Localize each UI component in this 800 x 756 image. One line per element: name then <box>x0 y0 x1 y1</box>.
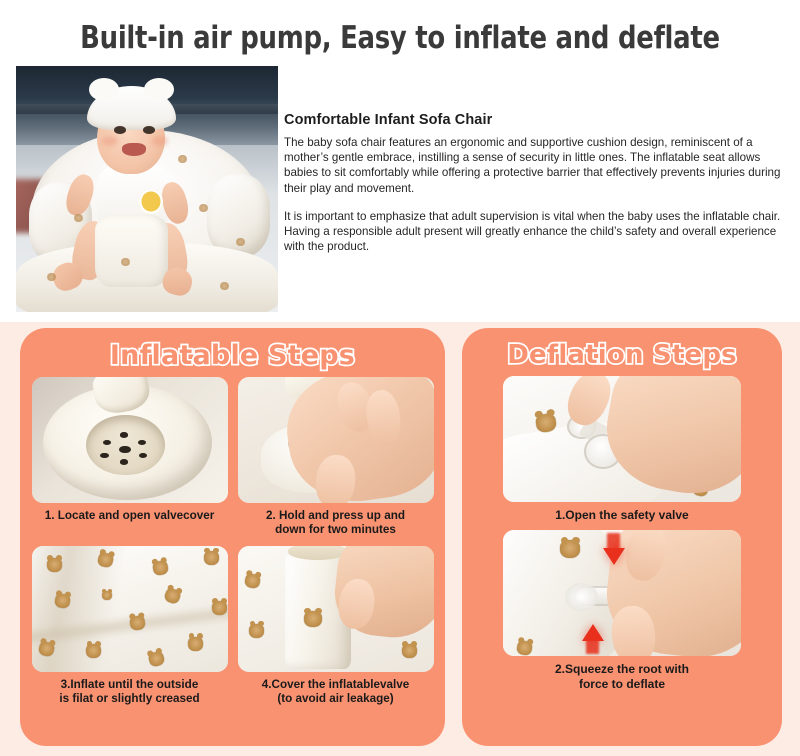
step-caption: 3.Inflate until the outside is filat or … <box>32 678 228 707</box>
red-arrow-down-icon <box>603 548 625 565</box>
steps-section: Inflatable Steps <box>0 322 800 756</box>
baby-hat <box>87 86 176 130</box>
inflatable-steps-panel: Inflatable Steps <box>20 328 445 746</box>
bear-print <box>199 204 208 212</box>
description-heading: Comfortable Infant Sofa Chair <box>284 112 792 128</box>
deflation-steps-panel: Deflation Steps 1.Open the safety valve <box>462 328 782 746</box>
bear-print <box>74 214 83 222</box>
valve-hole-center <box>119 446 131 454</box>
valve-hole <box>139 453 147 458</box>
inflatable-steps-title: Inflatable Steps <box>20 340 445 371</box>
valve-root <box>565 583 598 611</box>
baby-onesie-logo <box>139 189 163 214</box>
bear-print <box>204 551 219 565</box>
step-caption: 2.Squeeze the root with force to deflate <box>503 662 741 691</box>
bear-print <box>188 637 203 651</box>
description-block: Comfortable Infant Sofa Chair The baby s… <box>284 112 792 254</box>
inflatable-seat-front-post <box>95 214 168 288</box>
step-photo-valve-cover <box>32 377 228 503</box>
deflation-steps-title: Deflation Steps <box>462 340 782 370</box>
step-photo-cover-valve <box>238 546 434 672</box>
description-paragraph-2: It is important to emphasize that adult … <box>284 209 792 255</box>
step-item: 2. Hold and press up and down for two mi… <box>238 377 434 538</box>
bear-print <box>236 238 245 246</box>
step-item: 1.Open the safety valve <box>503 376 741 522</box>
step-photo-squeeze-root <box>503 530 741 656</box>
valve-hole <box>120 459 128 464</box>
bear-print <box>212 601 227 615</box>
step-caption: 4.Cover the inflatablevalve (to avoid ai… <box>238 678 434 707</box>
valve-hole <box>138 440 146 445</box>
step-item: 2.Squeeze the root with force to deflate <box>503 530 741 691</box>
inflatable-steps-grid: 1. Locate and open valvecover 2. Hold an… <box>20 371 445 707</box>
bear-print <box>402 644 417 658</box>
valve-hole <box>120 432 128 437</box>
valve-hole <box>100 453 108 458</box>
hero-product-photo <box>16 66 278 312</box>
bear-print <box>121 258 130 266</box>
bear-print <box>102 591 112 600</box>
step-photo-open-safety-valve <box>503 376 741 502</box>
baby-cheek-left <box>102 136 118 146</box>
bear-print <box>47 273 56 281</box>
step-caption: 1. Locate and open valvecover <box>32 509 228 523</box>
deflation-steps-grid: 1.Open the safety valve <box>462 370 782 691</box>
baby-mouth <box>122 143 146 155</box>
step-item: 1. Locate and open valvecover <box>32 377 228 538</box>
bear-print <box>47 558 62 572</box>
red-arrow-up-icon <box>582 624 604 641</box>
valve-hole <box>103 440 111 445</box>
header-section: Built-in air pump, Easy to inflate and d… <box>0 0 800 322</box>
step-item: 4.Cover the inflatablevalve (to avoid ai… <box>238 546 434 707</box>
bear-print <box>560 540 580 558</box>
step-caption: 2. Hold and press up and down for two mi… <box>238 509 434 538</box>
step-photo-inflated-surface <box>32 546 228 672</box>
baby-cheek-right <box>152 136 168 146</box>
bear-print <box>249 624 264 638</box>
valve-hole-group <box>98 432 153 465</box>
step-photo-press-pump <box>238 377 434 503</box>
bear-print <box>86 644 101 658</box>
description-paragraph-1: The baby sofa chair features an ergonomi… <box>284 135 792 196</box>
step-caption: 1.Open the safety valve <box>503 508 741 522</box>
bear-print <box>178 155 187 163</box>
page-title: Built-in air pump, Easy to inflate and d… <box>28 20 772 56</box>
bear-print <box>304 611 322 627</box>
step-item: 3.Inflate until the outside is filat or … <box>32 546 228 707</box>
